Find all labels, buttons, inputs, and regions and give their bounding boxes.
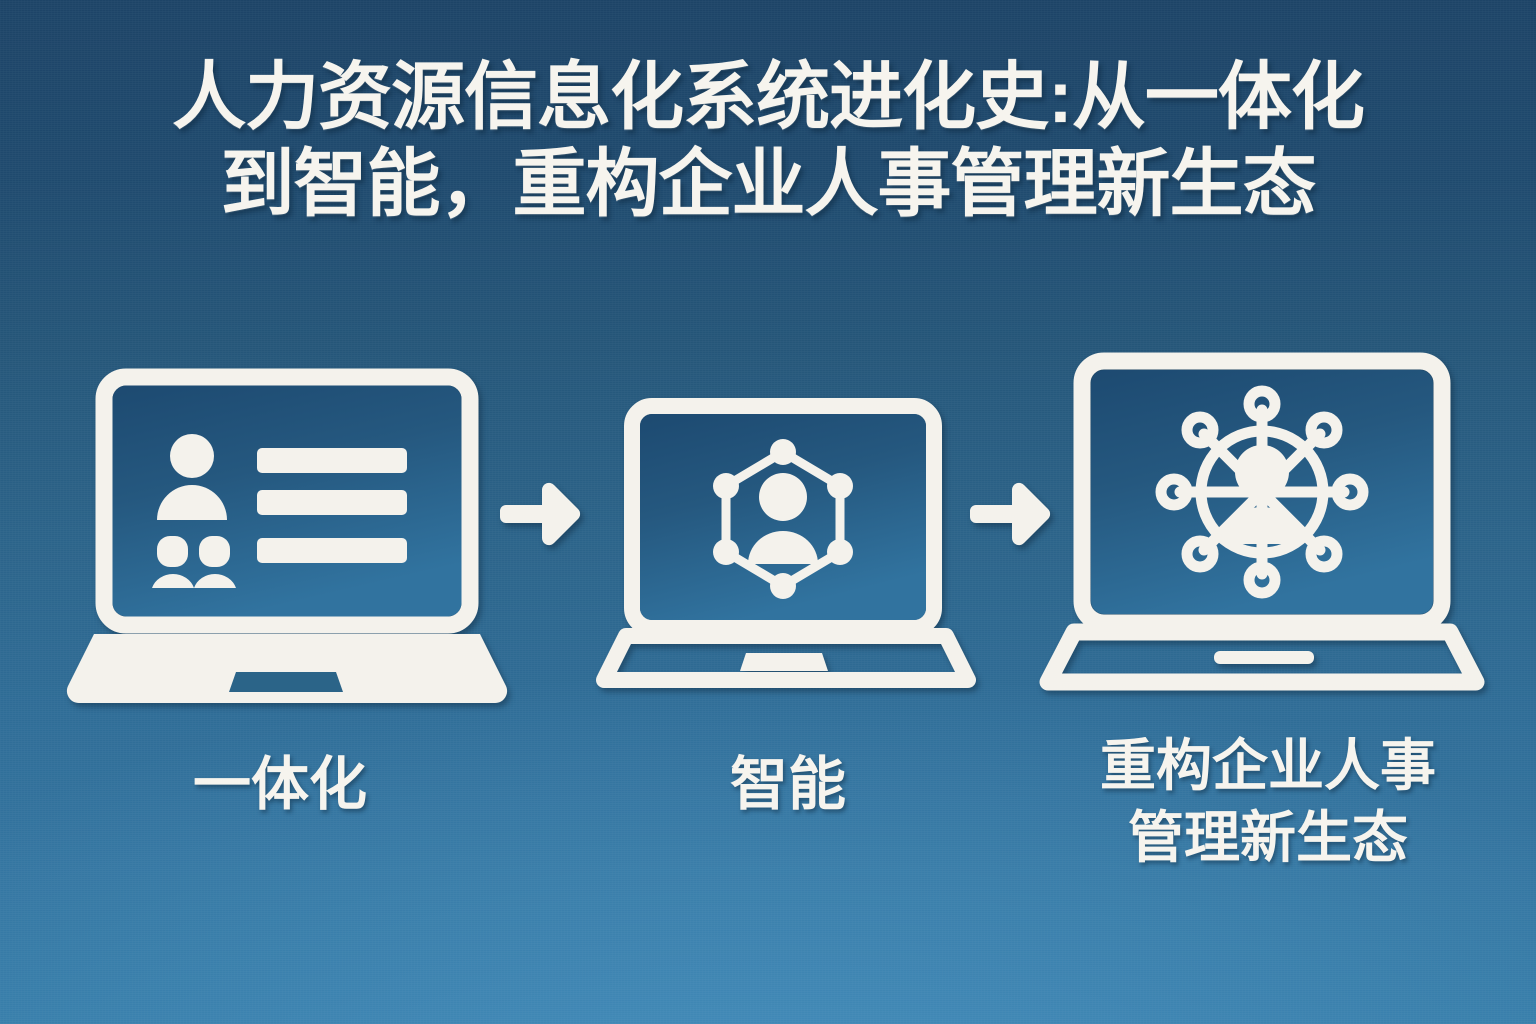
- flow-step-ecosystem[interactable]: [1036, 348, 1488, 704]
- laptop-trackpad: [740, 653, 828, 671]
- laptop-integrated-icon: [62, 360, 512, 710]
- laptop-ecosystem-icon: [1036, 348, 1488, 704]
- flow-step-intelligent[interactable]: [600, 392, 972, 704]
- employee-record-bars: [257, 448, 407, 563]
- laptop-intelligent-icon: [600, 392, 972, 704]
- flow-step-label-integrated: 一体化: [40, 748, 520, 822]
- laptop-trackpad: [1214, 651, 1314, 664]
- flow-step-label-ecosystem: 重构企业人事 管理新生态: [1012, 730, 1524, 873]
- arrow-right-icon: [501, 478, 585, 550]
- flow-step-label-intelligent: 智能: [588, 748, 988, 822]
- laptop-trackpad: [229, 672, 343, 692]
- evolution-diagram: 一体化 智能 重构企业人事 管理新生态: [0, 0, 1536, 1024]
- flow-connector-arrow-1: [501, 478, 585, 550]
- laptop-base-filled: [67, 634, 507, 703]
- flow-step-integrated[interactable]: [62, 360, 512, 710]
